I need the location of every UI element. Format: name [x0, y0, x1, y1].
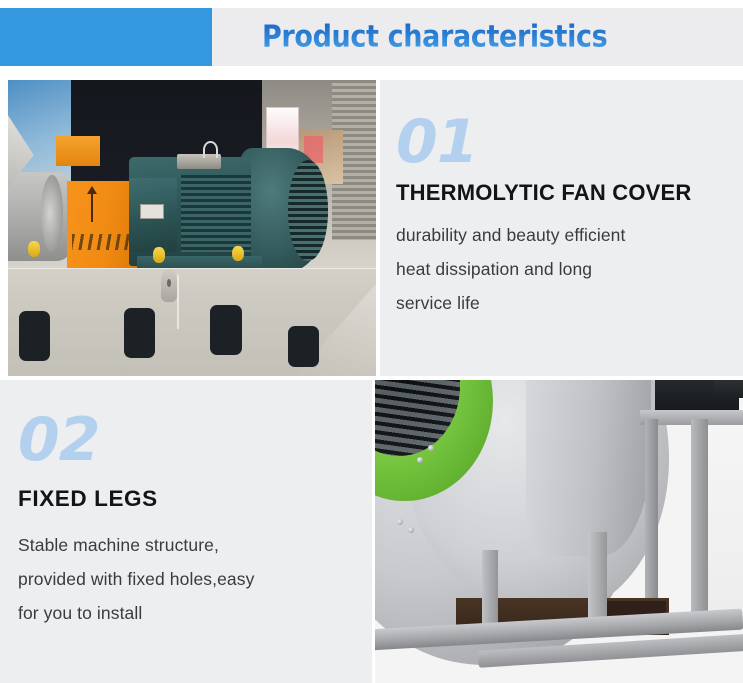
feature-01-text-panel: 01 THERMOLYTIC FAN COVER durability and … — [380, 80, 743, 376]
section-header: Product characteristics — [0, 8, 743, 66]
photo2-fixed-leg-left — [482, 550, 499, 629]
feature-02-photo — [375, 380, 743, 683]
blower-frame-photo — [375, 380, 743, 683]
photo-motor-cooling-fins — [181, 175, 251, 252]
header-accent-block — [0, 8, 212, 66]
feature-01-photo — [8, 80, 376, 376]
photo2-frame-post-middle — [645, 419, 658, 610]
feature-01-description-line: heat dissipation and long — [396, 252, 739, 286]
photo-bolt-cap — [232, 246, 244, 261]
feature-02-description-line: provided with fixed holes,easy — [18, 562, 362, 596]
photo-lifting-eye — [203, 141, 218, 159]
photo-bolt-cap — [153, 247, 165, 262]
photo-bolt-cap — [28, 241, 40, 256]
motor-machine-photo — [8, 80, 376, 376]
feature-02-number: 02 — [18, 410, 362, 470]
feature-02-description: Stable machine structure, provided with … — [18, 528, 362, 630]
photo2-blower-outlet — [526, 380, 651, 556]
photo2-frame-post-right — [691, 419, 708, 613]
product-characteristics-page: Product characteristics — [0, 0, 743, 683]
photo-motor-fan-grille — [288, 160, 328, 261]
photo-machine-slot — [210, 305, 241, 355]
feature-02-content: 02 FIXED LEGS Stable machine structure, … — [18, 410, 362, 630]
feature-01-content: 01 THERMOLYTIC FAN COVER durability and … — [396, 112, 739, 320]
feature-01-number: 01 — [396, 112, 739, 172]
feature-row-02: 02 FIXED LEGS Stable machine structure, … — [0, 380, 743, 683]
feature-02-description-line: for you to install — [18, 596, 362, 630]
feature-01-description-line: durability and beauty efficient — [396, 218, 739, 252]
photo-machine-slot — [19, 311, 50, 361]
feature-02-title: FIXED LEGS — [18, 486, 362, 512]
feature-01-description-line: service life — [396, 286, 739, 320]
photo-orange-guard-top — [56, 136, 100, 166]
photo-machine-slot — [124, 308, 155, 358]
photo-machine-seam — [177, 275, 179, 328]
feature-01-title: THERMOLYTIC FAN COVER — [396, 180, 739, 206]
photo2-motor-housing-rear — [714, 380, 743, 398]
photo-motor-label — [140, 204, 164, 219]
feature-02-description-line: Stable machine structure, — [18, 528, 362, 562]
photo-machine-slot — [288, 326, 319, 367]
feature-row-01: 01 THERMOLYTIC FAN COVER durability and … — [0, 80, 743, 376]
page-title: Product characteristics — [262, 20, 607, 55]
photo2-fixed-leg-middle — [588, 532, 606, 629]
up-arrow-icon — [91, 192, 93, 222]
feature-02-text-panel: 02 FIXED LEGS Stable machine structure, … — [0, 380, 372, 683]
photo-machine-bracket — [161, 269, 178, 302]
photo-pump-flange — [41, 175, 63, 252]
chevron-stripes-icon — [72, 234, 135, 250]
feature-01-description: durability and beauty efficient heat dis… — [396, 218, 739, 320]
